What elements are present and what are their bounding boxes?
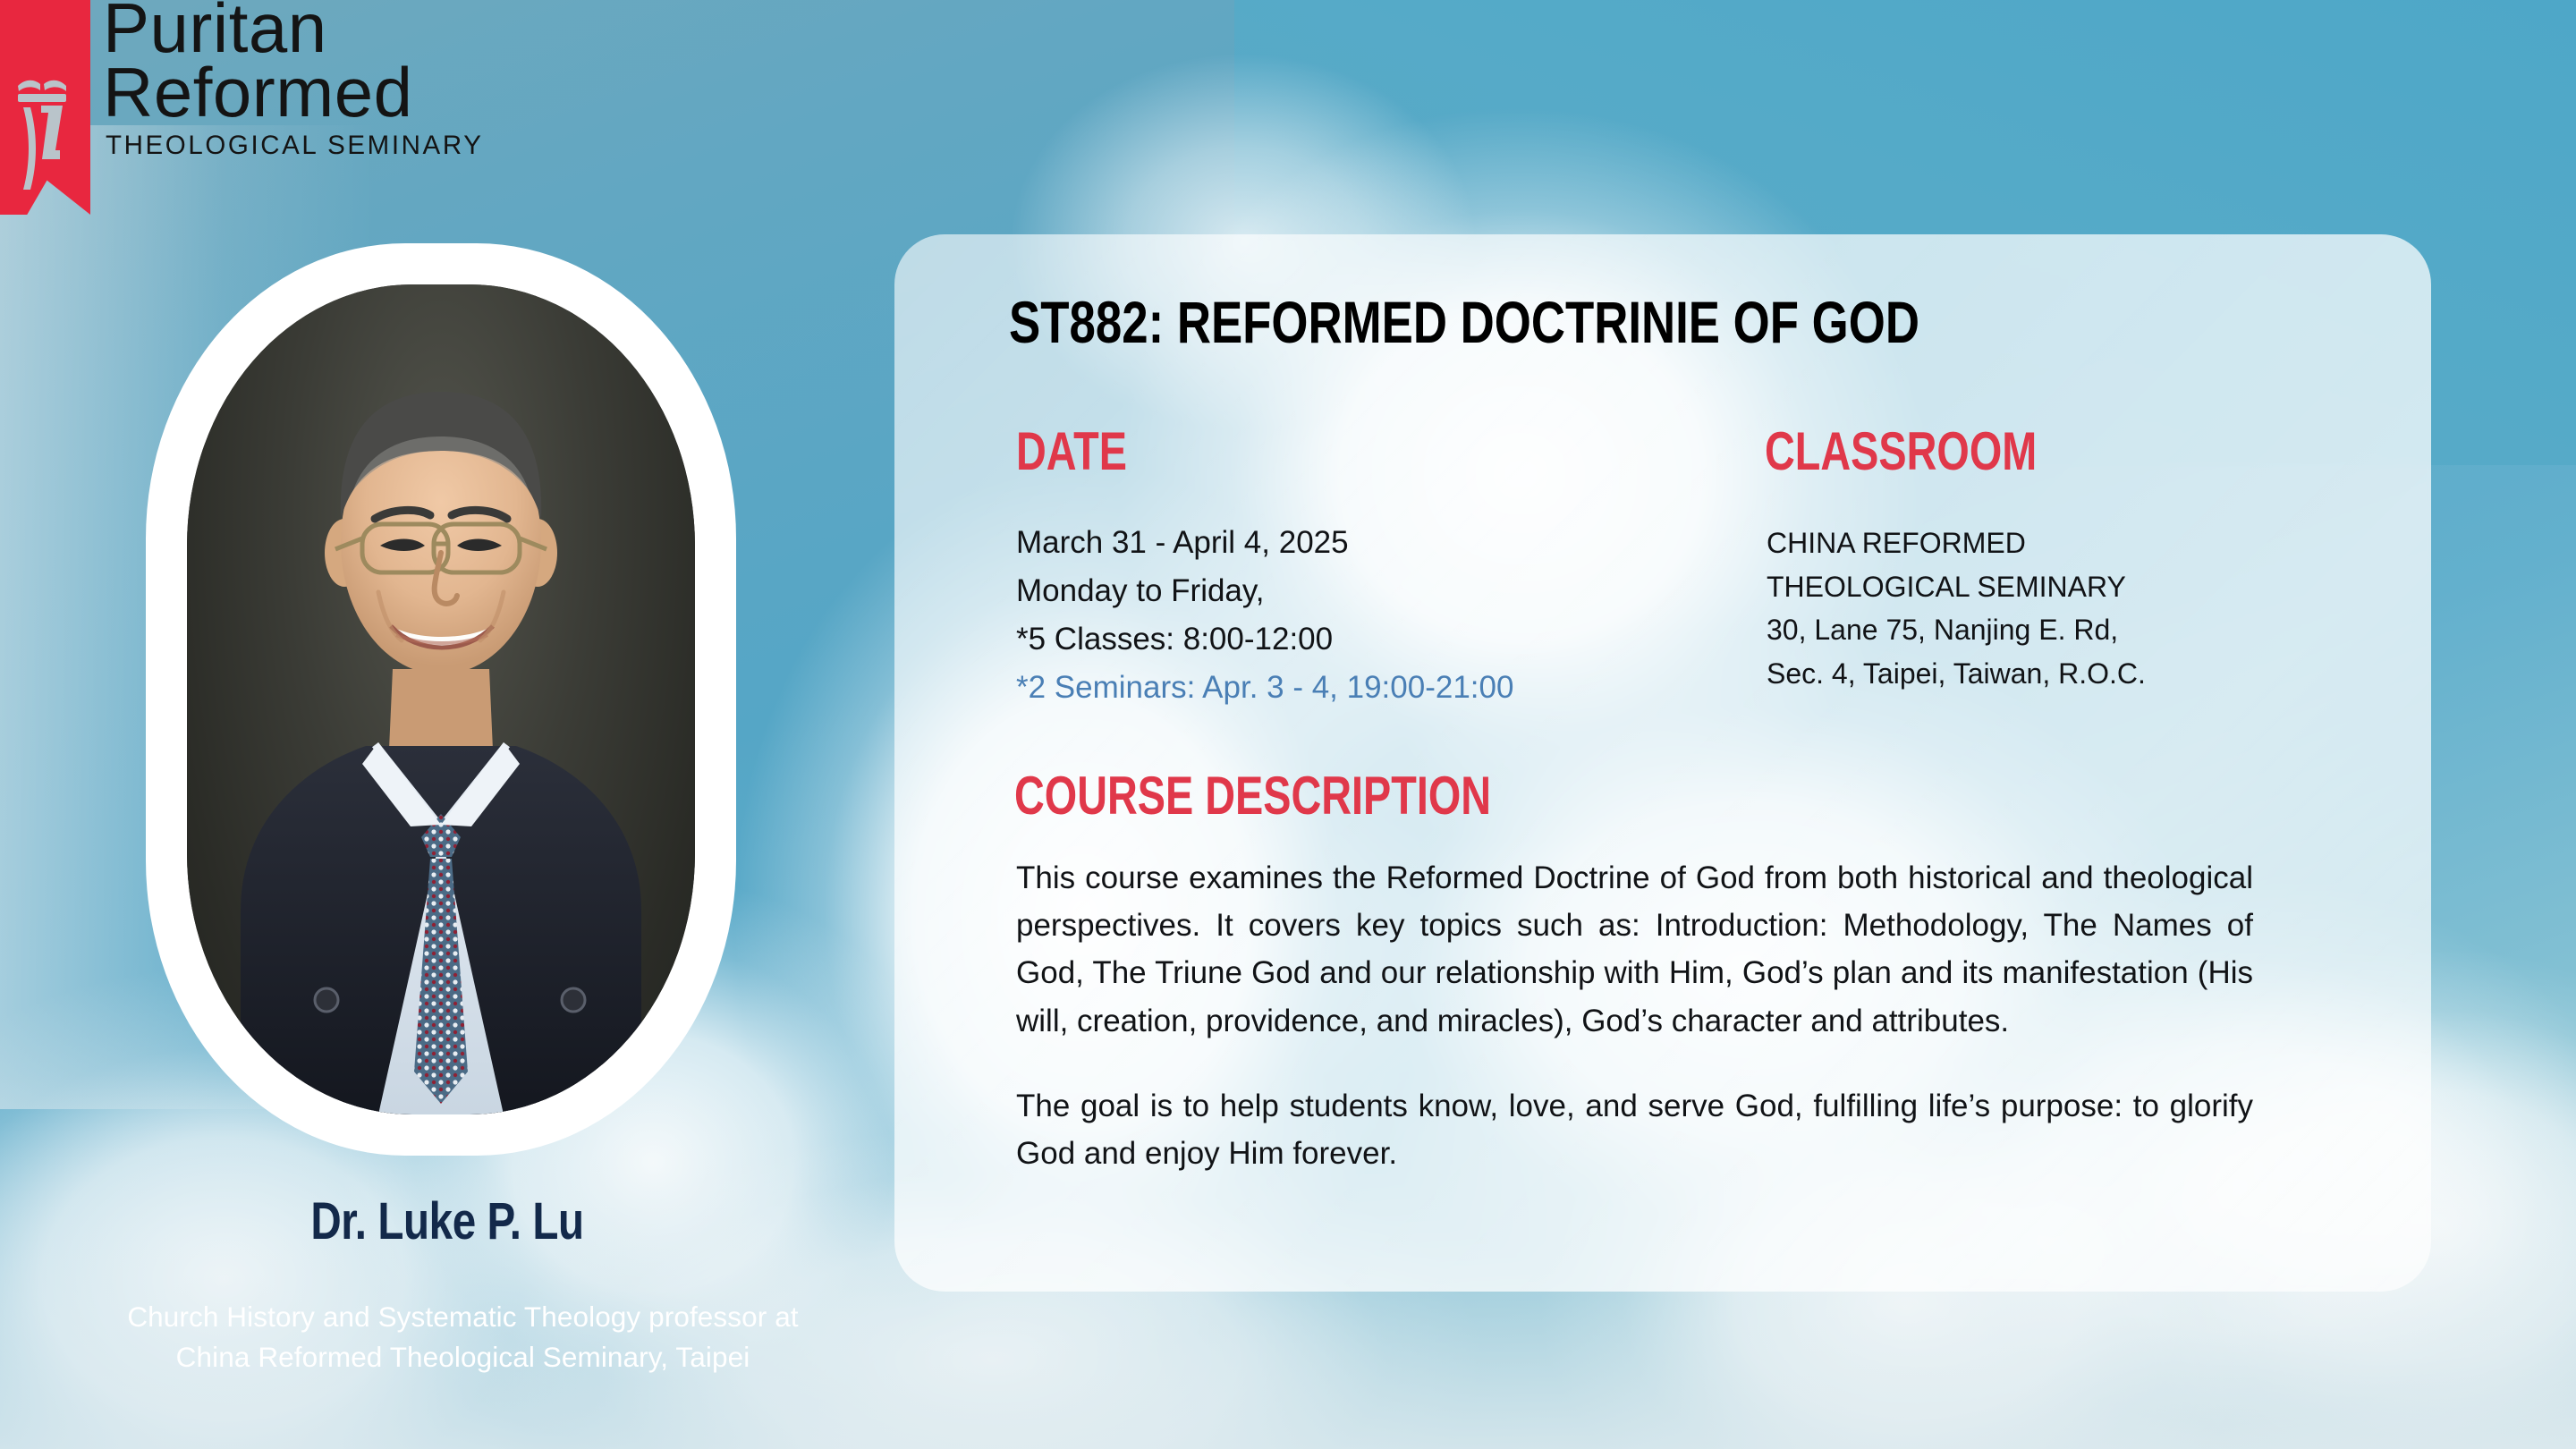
classroom-line-1: CHINA REFORMED — [1767, 521, 2146, 565]
classroom-line-2: THEOLOGICAL SEMINARY — [1767, 565, 2146, 609]
logo-line-reformed: Reformed — [103, 61, 483, 125]
pulpit-open-book-icon — [0, 0, 90, 215]
speaker-role-line-2: China Reformed Theological Seminary, Tai… — [0, 1337, 926, 1377]
portrait-photo — [187, 284, 695, 1114]
classroom-line-4: Sec. 4, Taipei, Taiwan, R.O.C. — [1767, 652, 2146, 696]
seminary-logo: Puritan Reformed THEOLOGICAL SEMINARY — [0, 0, 483, 215]
date-details: March 31 - April 4, 2025 Monday to Frida… — [1016, 519, 1513, 712]
speaker-role: Church History and Systematic Theology p… — [0, 1297, 926, 1377]
classroom-heading: CLASSROOM — [1765, 420, 2037, 482]
description-paragraph-1: This course examines the Reformed Doctri… — [1016, 854, 2253, 1045]
course-title: ST882: REFORMED DOCTRINIE OF GOD — [1009, 288, 1919, 356]
logo-line-theological-seminary: THEOLOGICAL SEMINARY — [106, 131, 483, 161]
description-paragraph-2: The goal is to help students know, love,… — [1016, 1082, 2253, 1177]
date-line-3: *5 Classes: 8:00-12:00 — [1016, 615, 1513, 664]
portrait-frame — [146, 243, 736, 1156]
classroom-details: CHINA REFORMED THEOLOGICAL SEMINARY 30, … — [1767, 521, 2146, 696]
speaker-name: Dr. Luke P. Lu — [80, 1191, 814, 1251]
speaker-role-line-1: Church History and Systematic Theology p… — [0, 1297, 926, 1337]
date-heading: DATE — [1016, 420, 1127, 482]
date-line-4-seminars: *2 Seminars: Apr. 3 - 4, 19:00-21:00 — [1016, 664, 1513, 712]
logo-line-puritan: Puritan — [103, 0, 483, 61]
classroom-line-3: 30, Lane 75, Nanjing E. Rd, — [1767, 608, 2146, 652]
course-announcement-poster: Puritan Reformed THEOLOGICAL SEMINARY — [0, 0, 2576, 1449]
date-line-1: March 31 - April 4, 2025 — [1016, 519, 1513, 567]
course-description-heading: COURSE DESCRIPTION — [1014, 765, 1491, 826]
logo-wordmark: Puritan Reformed THEOLOGICAL SEMINARY — [103, 0, 483, 161]
speaker-portrait — [146, 243, 736, 1156]
date-line-2: Monday to Friday, — [1016, 567, 1513, 615]
course-description-body: This course examines the Reformed Doctri… — [1016, 854, 2253, 1177]
